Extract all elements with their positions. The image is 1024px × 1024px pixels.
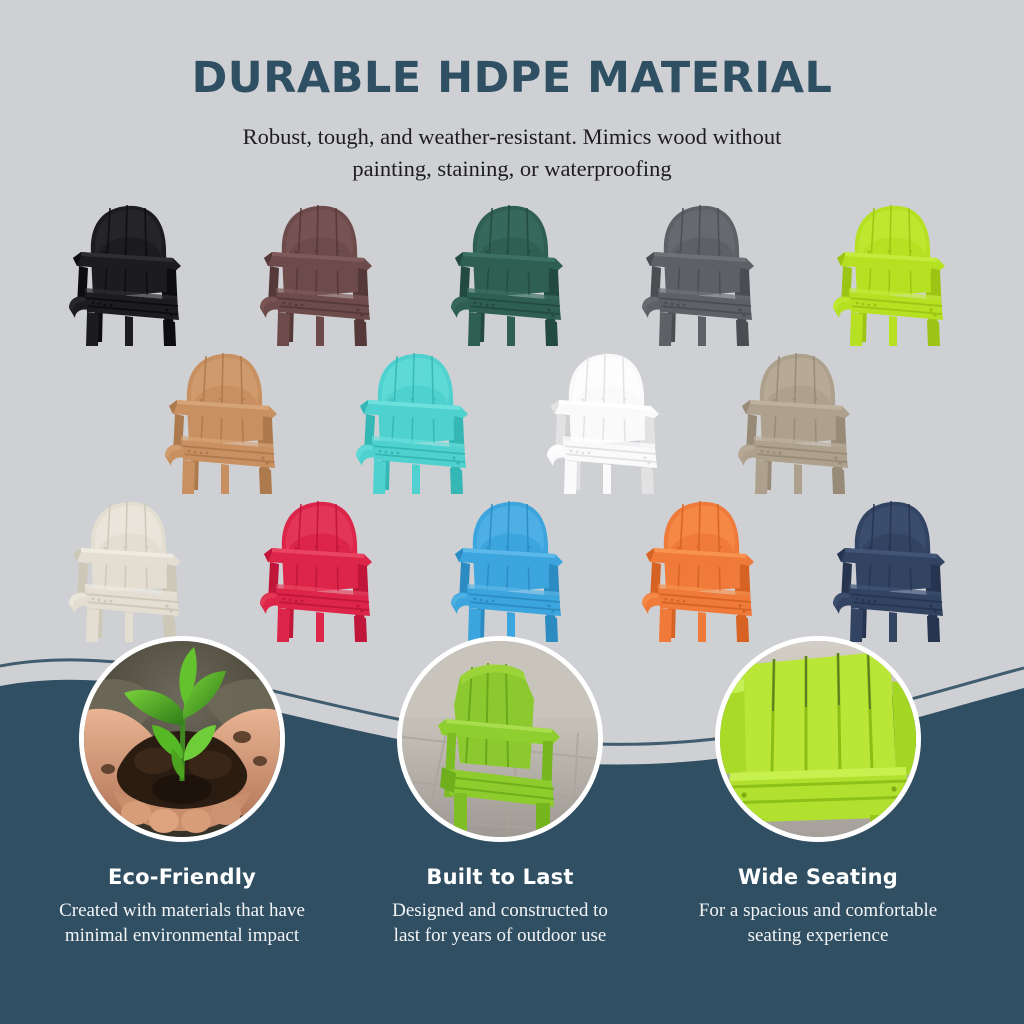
feature-description: Created with materials that have minimal… bbox=[22, 889, 342, 948]
feature-title: Eco-Friendly bbox=[22, 842, 342, 889]
chair-swatch-brown[interactable] bbox=[229, 196, 414, 346]
adirondack-chair-icon bbox=[342, 344, 492, 494]
subtitle-line-2: painting, staining, or waterproofing bbox=[0, 153, 1024, 185]
wide-seat-chair-closeup-icon bbox=[720, 641, 916, 837]
chair-swatch-weathered-wood[interactable] bbox=[706, 344, 891, 494]
adirondack-chair-icon bbox=[437, 196, 587, 346]
adirondack-chair-icon bbox=[533, 344, 683, 494]
adirondack-chair-icon bbox=[819, 492, 969, 642]
page-subtitle: Robust, tough, and weather-resistant. Mi… bbox=[0, 101, 1024, 185]
feature-eco-friendly: Eco-Friendly Created with materials that… bbox=[22, 636, 342, 948]
feature-desc-line-1: Created with materials that have bbox=[59, 900, 305, 921]
subtitle-line-1: Robust, tough, and weather-resistant. Mi… bbox=[243, 124, 782, 149]
adirondack-chair-icon bbox=[55, 492, 205, 642]
adirondack-chair-icon bbox=[151, 344, 301, 494]
page-title: DURABLE HDPE MATERIAL bbox=[0, 0, 1024, 101]
feature-description: Designed and constructed to last for yea… bbox=[340, 889, 660, 948]
product-infographic: DURABLE HDPE MATERIAL Robust, tough, and… bbox=[0, 0, 1024, 1024]
chair-swatch-dark-green[interactable] bbox=[420, 196, 605, 346]
adirondack-chair-icon bbox=[628, 492, 778, 642]
hands-holding-soil-with-seedling-icon bbox=[84, 641, 280, 837]
chair-color-grid bbox=[0, 196, 1024, 642]
feature-desc-line-2: seating experience bbox=[658, 923, 978, 948]
feature-description: For a spacious and comfortable seating e… bbox=[658, 889, 978, 948]
chair-row bbox=[0, 344, 1024, 494]
adirondack-chair-icon bbox=[628, 196, 778, 346]
feature-image-circle bbox=[79, 636, 285, 842]
adirondack-chair-icon bbox=[437, 492, 587, 642]
header: DURABLE HDPE MATERIAL Robust, tough, and… bbox=[0, 0, 1024, 185]
chair-row bbox=[0, 492, 1024, 642]
chair-swatch-gray[interactable] bbox=[611, 196, 796, 346]
feature-desc-line-1: For a spacious and comfortable bbox=[699, 900, 937, 921]
chair-swatch-blue[interactable] bbox=[420, 492, 605, 642]
feature-desc-line-2: last for years of outdoor use bbox=[340, 923, 660, 948]
chair-swatch-orange[interactable] bbox=[611, 492, 796, 642]
adirondack-chair-icon bbox=[246, 196, 396, 346]
chair-swatch-black[interactable] bbox=[38, 196, 223, 346]
chair-swatch-red[interactable] bbox=[229, 492, 414, 642]
feature-desc-line-1: Designed and constructed to bbox=[392, 900, 608, 921]
adirondack-chair-icon bbox=[55, 196, 205, 346]
feature-title: Built to Last bbox=[340, 842, 660, 889]
feature-desc-line-2: minimal environmental impact bbox=[22, 923, 342, 948]
lime-green-chair-on-patio-icon bbox=[402, 641, 598, 837]
chair-swatch-white[interactable] bbox=[515, 344, 700, 494]
feature-image-circle bbox=[715, 636, 921, 842]
adirondack-chair-icon bbox=[724, 344, 874, 494]
chair-swatch-lime-green[interactable] bbox=[802, 196, 987, 346]
adirondack-chair-icon bbox=[819, 196, 969, 346]
chair-row bbox=[0, 196, 1024, 346]
feature-wide-seating: Wide Seating For a spacious and comforta… bbox=[658, 636, 978, 948]
chair-swatch-teak[interactable] bbox=[133, 344, 318, 494]
feature-title: Wide Seating bbox=[658, 842, 978, 889]
feature-built-to-last: Built to Last Designed and constructed t… bbox=[340, 636, 660, 948]
chair-swatch-turquoise[interactable] bbox=[324, 344, 509, 494]
adirondack-chair-icon bbox=[246, 492, 396, 642]
chair-swatch-ivory[interactable] bbox=[38, 492, 223, 642]
feature-image-circle bbox=[397, 636, 603, 842]
chair-swatch-navy[interactable] bbox=[802, 492, 987, 642]
